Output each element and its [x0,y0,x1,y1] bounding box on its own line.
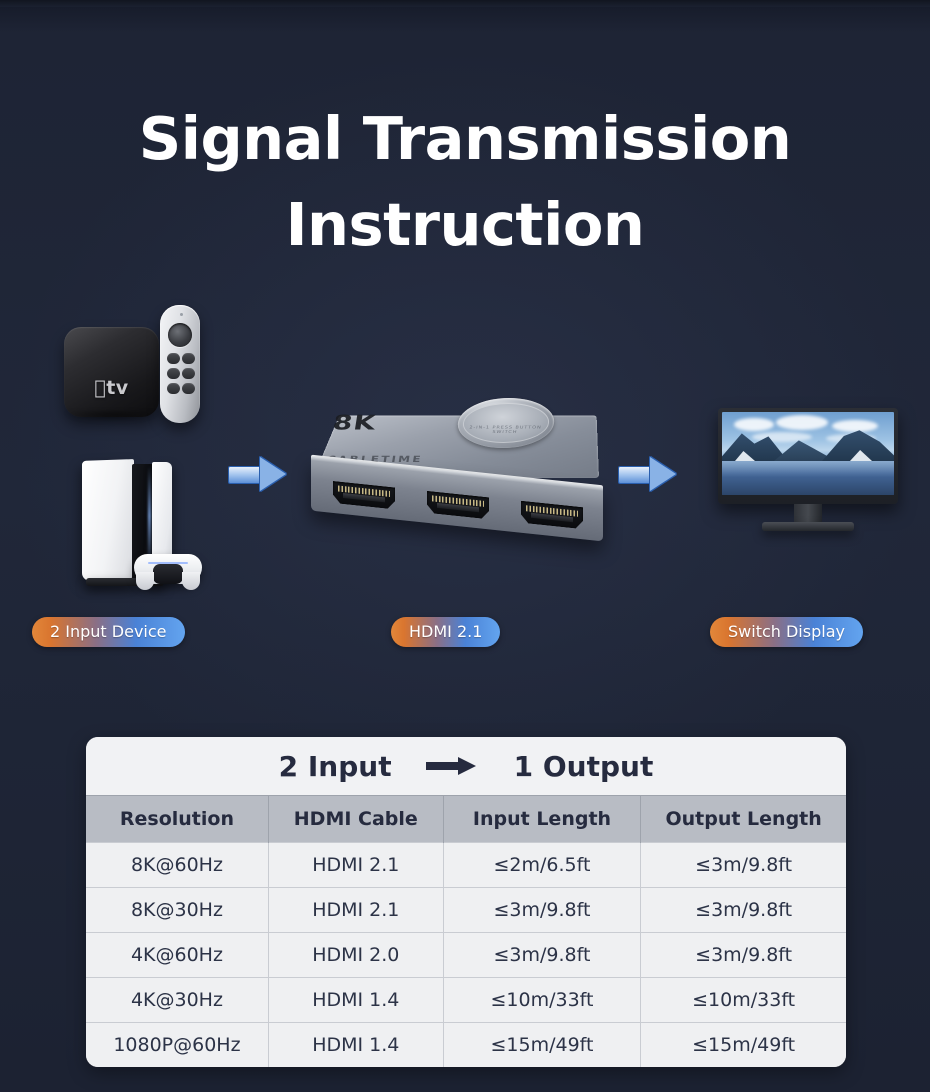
badge-hdmi-version: HDMI 2.1 [391,617,500,647]
cell-input-length: ≤2m/6.5ft [443,843,641,888]
arrow-head [650,457,676,491]
table-row: 4K@30Hz HDMI 1.4 ≤10m/33ft ≤10m/33ft [86,978,846,1023]
arrow-shaft [426,762,462,770]
spec-title-input: 2 Input [279,750,392,783]
cell-hdmi-cable: HDMI 1.4 [268,978,443,1023]
spec-table-body: 8K@60Hz HDMI 2.1 ≤2m/6.5ft ≤3m/9.8ft 8K@… [86,843,846,1068]
apple-logo-icon:  [94,377,106,399]
dualsense-controller [134,548,202,590]
badge-switch-display: Switch Display [710,617,863,647]
cell-output-length: ≤3m/9.8ft [641,933,846,978]
cell-hdmi-cable: HDMI 2.0 [268,933,443,978]
cell-hdmi-cable: HDMI 2.1 [268,888,443,933]
remote-indicator-dot [180,313,183,316]
cell-resolution: 4K@30Hz [86,978,268,1023]
cloud-shape [734,418,774,431]
cell-input-length: ≤3m/9.8ft [443,888,641,933]
spec-table-header-row: Resolution HDMI Cable Input Length Outpu… [86,796,846,843]
cell-hdmi-cable: HDMI 1.4 [268,1023,443,1068]
apple-tv-device: tv [58,305,218,425]
lake-water [722,461,894,495]
cell-input-length: ≤10m/33ft [443,978,641,1023]
cell-resolution: 8K@30Hz [86,888,268,933]
remote-button [182,368,195,379]
siri-remote [160,305,200,423]
ps5-side-panel-left [82,459,134,581]
monitor-screen [722,412,894,495]
spec-table-head: Resolution HDMI Cable Input Length Outpu… [86,796,846,843]
apple-tv-label: tv [106,377,128,399]
arrow-head [260,457,286,491]
diagram-scene: tv [0,0,930,700]
infographic-page: Signal Transmission Instruction tv [0,0,930,1092]
column-header-hdmi-cable: HDMI Cable [268,796,443,843]
spec-table-card: 2 Input 1 Output Resolution HDMI Cable I… [86,737,846,1067]
cell-resolution: 1080P@60Hz [86,1023,268,1068]
monitor-bezel [718,408,898,504]
spec-table-title: 2 Input 1 Output [86,737,846,795]
table-row: 1080P@60Hz HDMI 1.4 ≤15m/49ft ≤15m/49ft [86,1023,846,1068]
device-8k-label: 8K [331,411,378,435]
controller-grip-left [136,572,154,590]
remote-clickpad-icon [168,323,192,347]
controller-touchpad [153,564,183,584]
cell-resolution: 8K@60Hz [86,843,268,888]
badge-input-device: 2 Input Device [32,617,185,647]
remote-button [167,368,180,379]
cloud-shape [776,415,828,430]
cell-input-length: ≤3m/9.8ft [443,933,641,978]
press-button-label: 2-IN-1 PRESS BUTTON SWITCH [457,425,554,435]
hdmi-port-icon [427,491,489,520]
hdmi-port-icon [333,481,395,510]
controller-grip-right [182,572,200,590]
monitor-stand-base [762,522,854,531]
arrow-input-to-switch-icon [228,457,290,491]
cell-output-length: ≤3m/9.8ft [641,888,846,933]
remote-button [182,353,195,364]
column-header-input-length: Input Length [443,796,641,843]
spec-title-output: 1 Output [514,750,654,783]
table-row: 8K@60Hz HDMI 2.1 ≤2m/6.5ft ≤3m/9.8ft [86,843,846,888]
playstation-5-console [78,452,203,602]
arrow-switch-to-display-icon [618,457,680,491]
cloud-shape [832,420,878,432]
display-monitor [718,408,898,538]
cell-output-length: ≤10m/33ft [641,978,846,1023]
arrow-head [458,757,476,775]
spec-table: Resolution HDMI Cable Input Length Outpu… [86,795,846,1067]
column-header-resolution: Resolution [86,796,268,843]
cell-hdmi-cable: HDMI 2.1 [268,843,443,888]
hdmi-port-icon [521,501,583,530]
remote-button [182,383,195,394]
cell-input-length: ≤15m/49ft [443,1023,641,1068]
hdmi-switch-device: 8K CABLETIME 2-IN-1 PRESS BUTTON SWITCH [303,388,613,538]
cell-resolution: 4K@60Hz [86,933,268,978]
table-row: 8K@30Hz HDMI 2.1 ≤3m/9.8ft ≤3m/9.8ft [86,888,846,933]
column-header-output-length: Output Length [641,796,846,843]
press-button-inner [461,403,552,443]
apple-tv-logo: tv [64,377,159,399]
remote-button [167,383,180,394]
cell-output-length: ≤3m/9.8ft [641,843,846,888]
apple-tv-box: tv [64,327,159,417]
remote-button [167,353,180,364]
cell-output-length: ≤15m/49ft [641,1023,846,1068]
monitor-stand-neck [794,504,822,524]
table-row: 4K@60Hz HDMI 2.0 ≤3m/9.8ft ≤3m/9.8ft [86,933,846,978]
spec-title-arrow-icon [426,757,480,775]
